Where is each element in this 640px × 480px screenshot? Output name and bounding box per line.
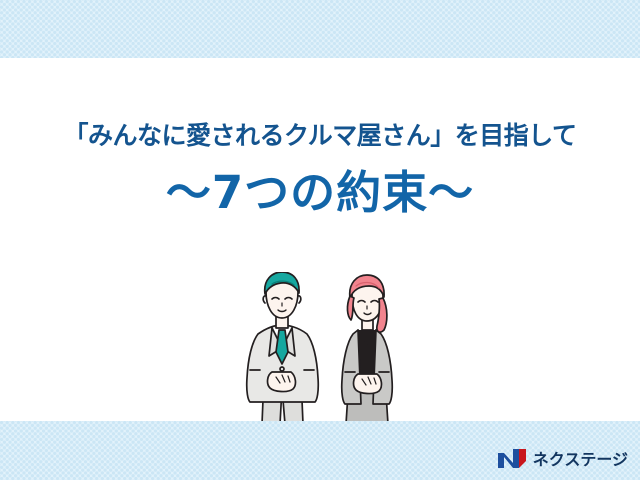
logo-mark-blue-shape <box>498 449 519 468</box>
two-staff-bowing-illustration <box>236 272 416 424</box>
female-coat-left <box>342 330 361 404</box>
male-jacket-button <box>280 367 284 371</box>
polka-dot-band-top <box>0 0 640 58</box>
female-hair-side-left <box>347 296 354 320</box>
nextage-logo-text: ネクステージ <box>533 446 628 470</box>
headline-line-2: 〜7つの約束〜 <box>0 168 640 218</box>
logo-mark-red-shape <box>519 449 526 468</box>
male-staff-figure <box>247 272 319 424</box>
headline-line-1: 「みんなに愛されるクルマ屋さん」を目指して <box>0 122 640 151</box>
nextage-logo: ネクステージ <box>497 446 628 470</box>
headline-block: 「みんなに愛されるクルマ屋さん」を目指して 〜7つの約束〜 <box>0 122 640 217</box>
nextage-n-mark-icon <box>497 448 527 469</box>
staff-illustration-svg <box>236 272 416 424</box>
promise-banner: 「みんなに愛されるクルマ屋さん」を目指して 〜7つの約束〜 <box>0 0 640 480</box>
female-staff-figure <box>342 275 393 424</box>
